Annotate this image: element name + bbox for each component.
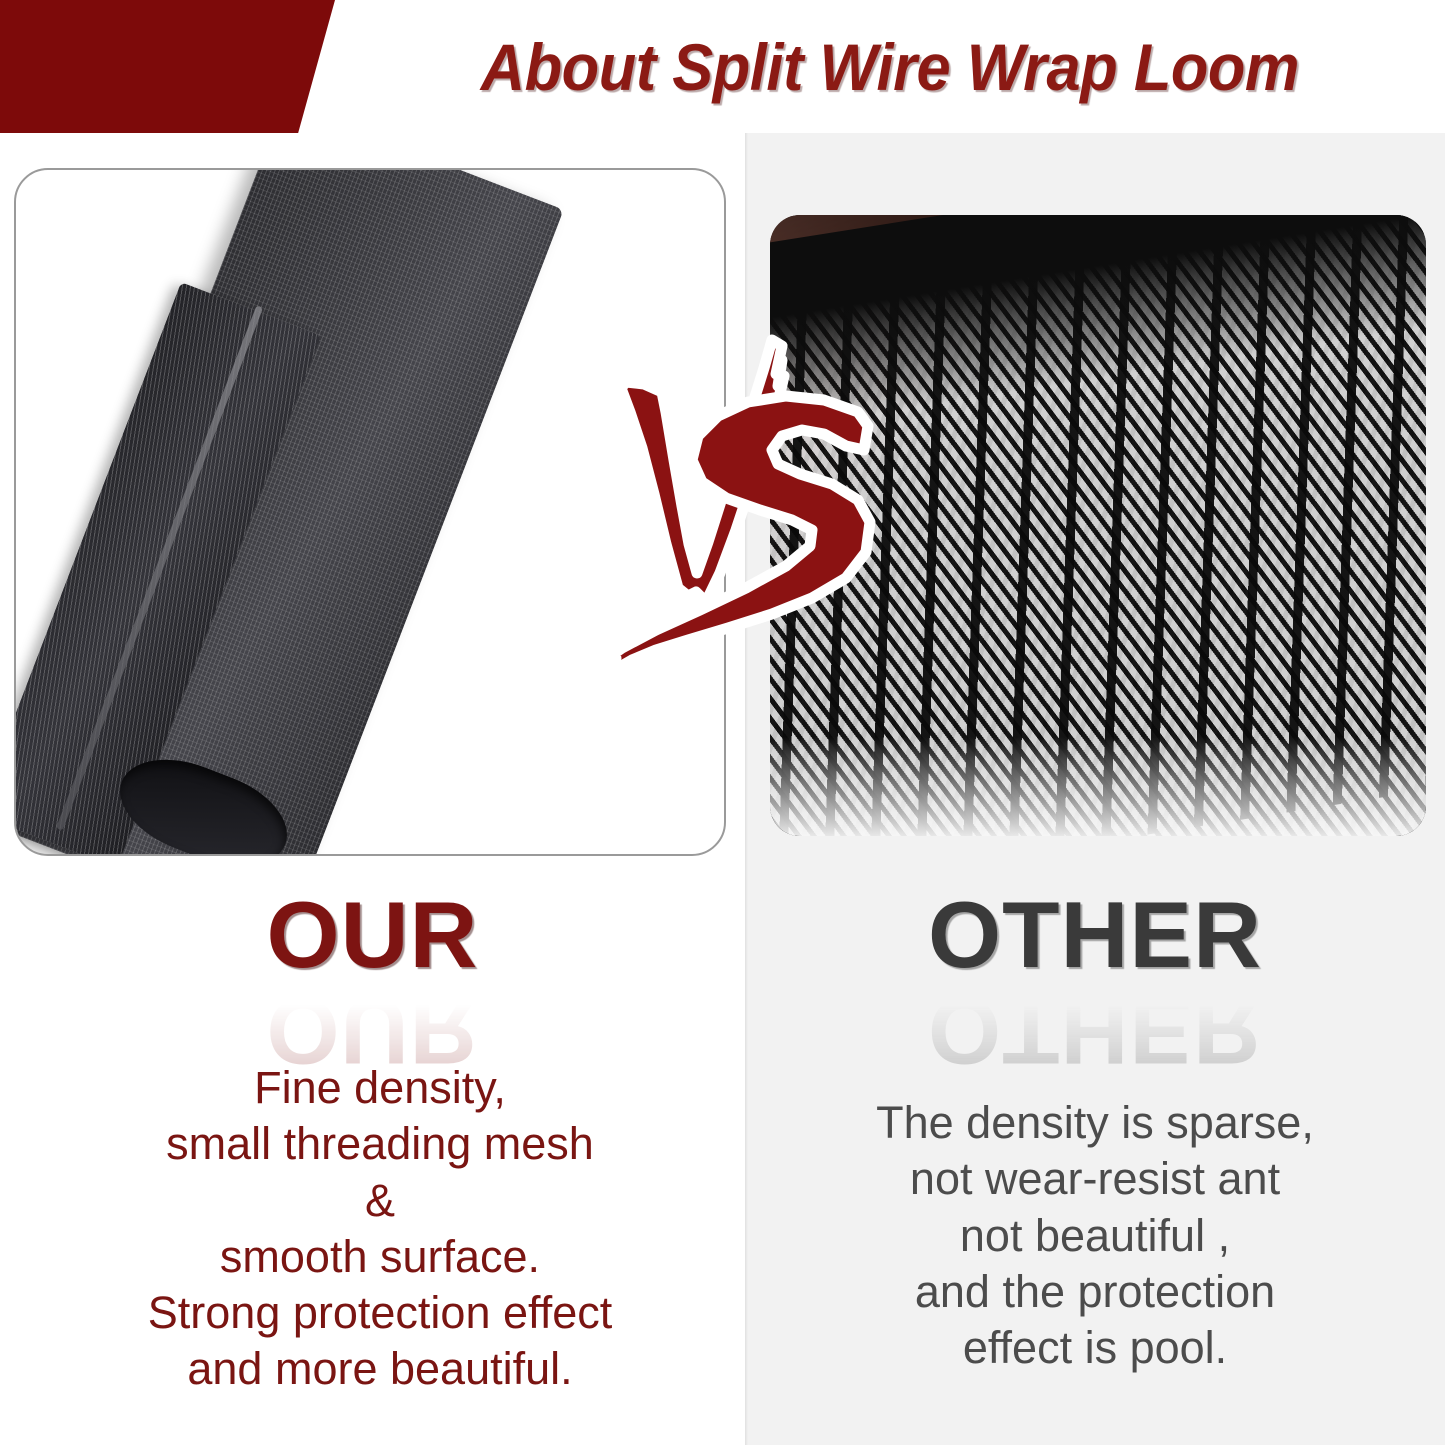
versus-icon	[596, 330, 896, 710]
our-description-line: Strong protection effect	[20, 1285, 740, 1341]
page-title-text: About Split Wire Wrap Loom	[481, 29, 1299, 105]
our-label: OUR	[0, 888, 745, 982]
page-title: About Split Wire Wrap Loom	[335, 0, 1445, 133]
our-description-line: &	[20, 1173, 740, 1229]
our-description-line: and more beautiful.	[20, 1341, 740, 1397]
other-label-block: OTHER OTHER	[745, 888, 1445, 1078]
other-description-line: not beautiful ,	[750, 1208, 1440, 1264]
other-description: The density is sparse, not wear-resist a…	[750, 1095, 1440, 1376]
our-description-line: small threading mesh	[20, 1116, 740, 1172]
other-description-line: effect is pool.	[750, 1320, 1440, 1376]
brand-banner	[0, 0, 335, 133]
other-description-line: not wear-resist ant	[750, 1151, 1440, 1207]
mesh-bottom-fade	[770, 737, 1426, 836]
other-label: OTHER	[745, 888, 1445, 982]
our-description-line: smooth surface.	[20, 1229, 740, 1285]
other-description-line: The density is sparse,	[750, 1095, 1440, 1151]
other-description-line: and the protection	[750, 1264, 1440, 1320]
other-label-reflection: OTHER	[745, 984, 1445, 1078]
our-description: Fine density, small threading mesh & smo…	[20, 1060, 740, 1398]
our-label-block: OUR OUR	[0, 888, 745, 1078]
our-description-line: Fine density,	[20, 1060, 740, 1116]
infographic-page: BuyUneed About Split Wire Wrap Loom	[0, 0, 1445, 1445]
